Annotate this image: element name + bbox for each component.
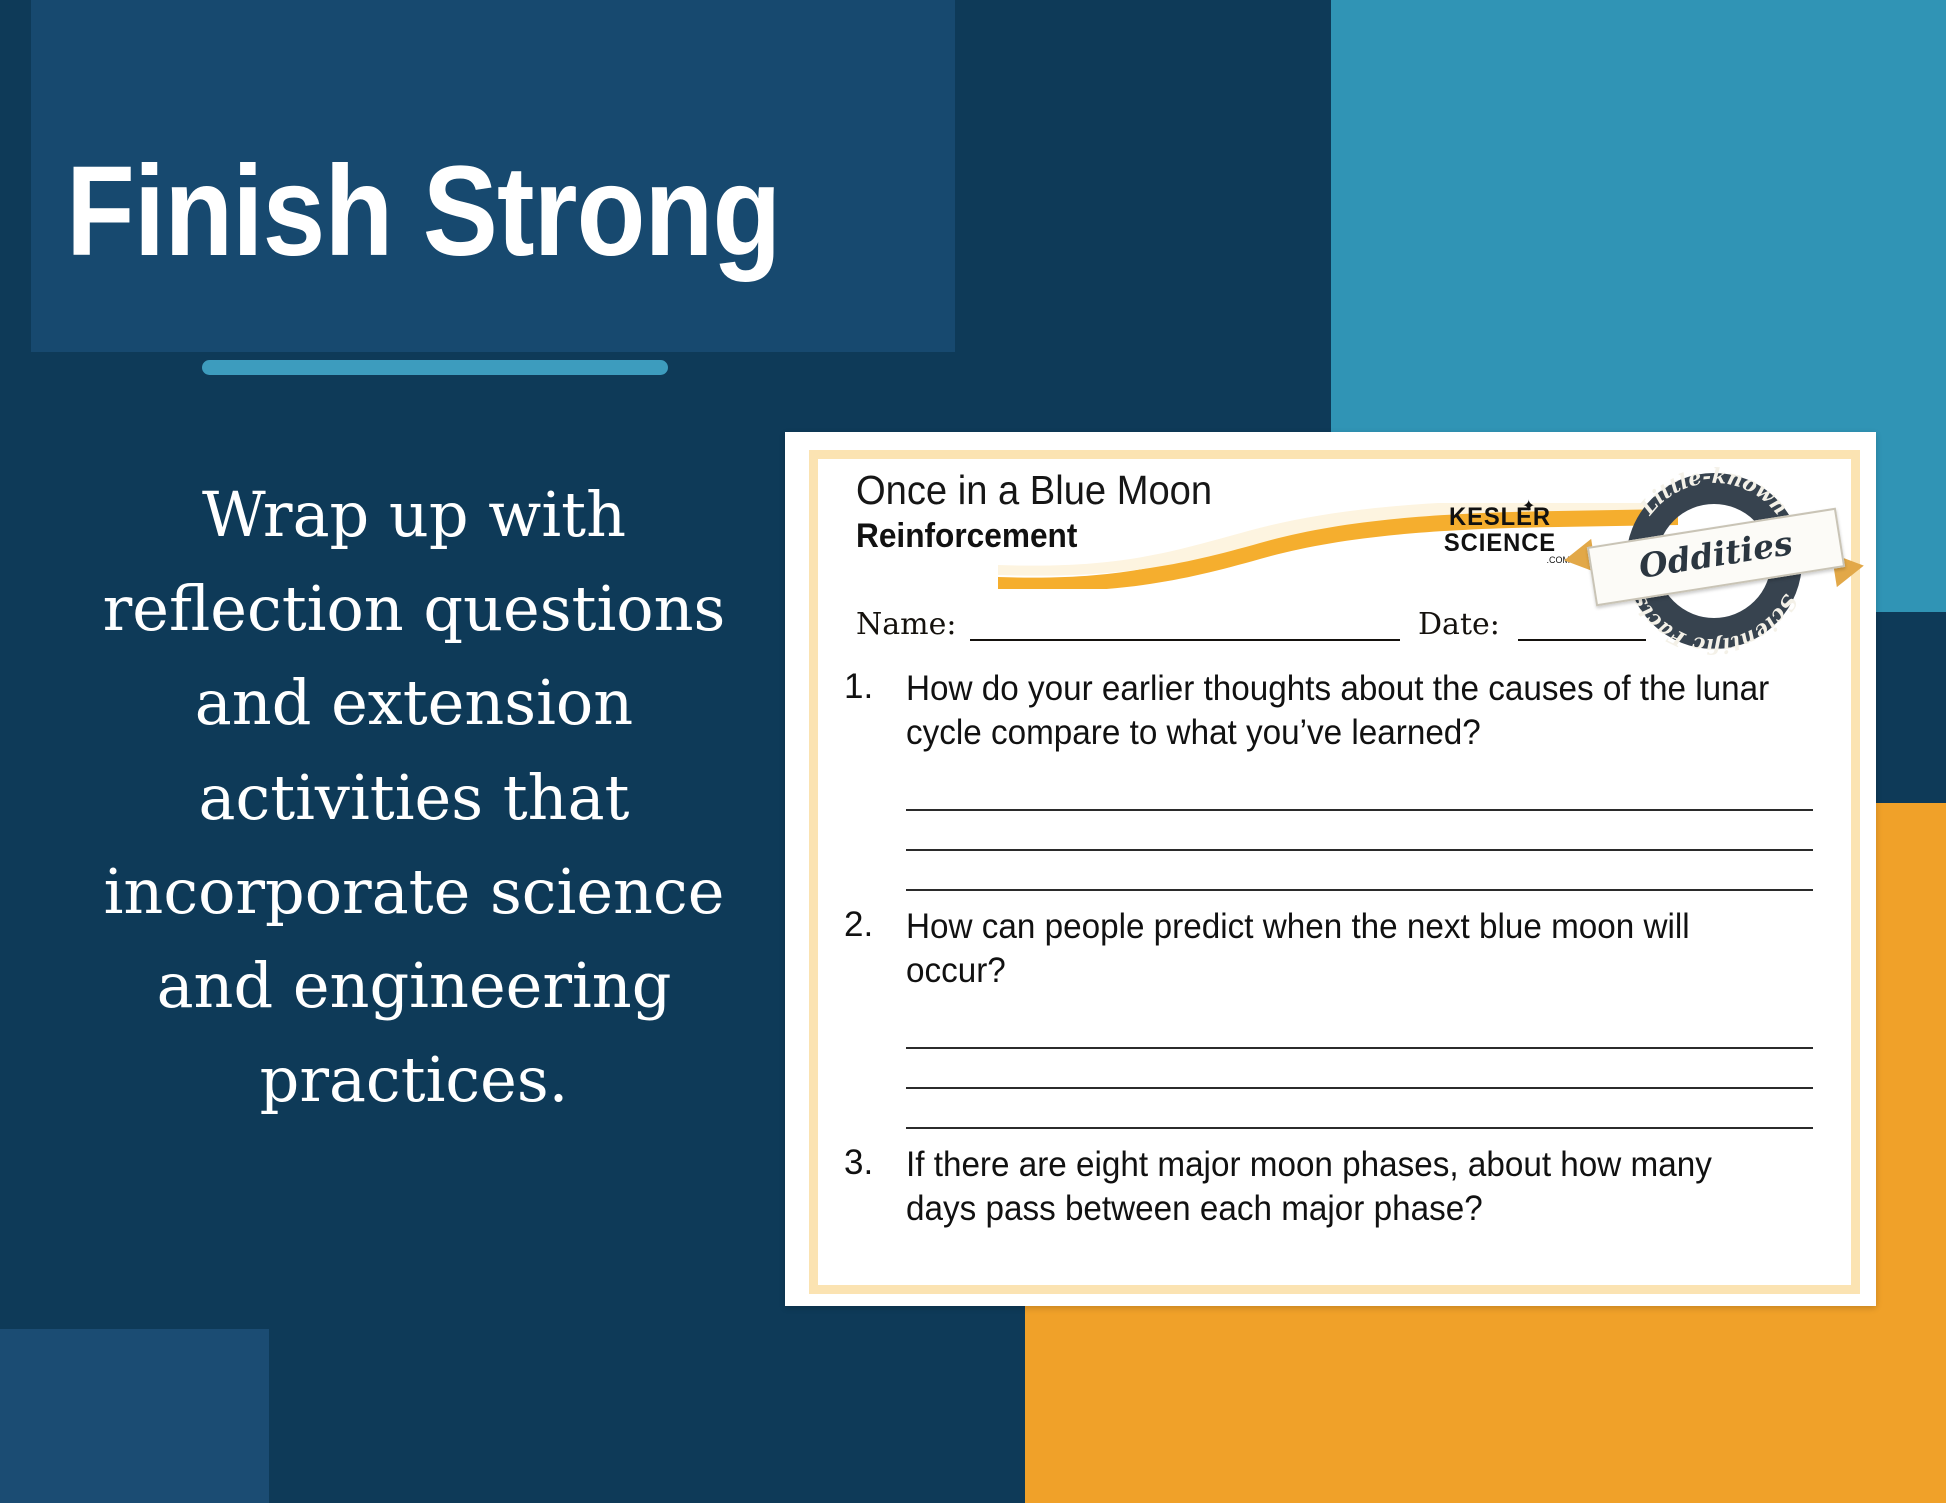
date-input-line[interactable] xyxy=(1518,639,1646,641)
answer-line[interactable] xyxy=(906,771,1813,811)
answer-lines[interactable] xyxy=(906,1009,1851,1129)
logo-line-1: KESLER xyxy=(1434,505,1567,530)
question-item-1: 1. How do your earlier thoughts about th… xyxy=(818,667,1851,891)
question-number: 2. xyxy=(818,905,906,993)
question-text: How can people predict when the next blu… xyxy=(906,905,1804,993)
question-item-2: 2. How can people predict when the next … xyxy=(818,905,1851,1129)
logo-suffix: .COM xyxy=(1430,556,1570,565)
name-date-row: Name: Date: xyxy=(818,601,1851,653)
answer-line[interactable] xyxy=(906,851,1813,891)
worksheet-card[interactable]: Once in a Blue Moon Reinforcement ✦ KESL… xyxy=(785,432,1876,1306)
slide-canvas: Finish Strong Wrap up with reflection qu… xyxy=(0,0,1946,1503)
name-label: Name: xyxy=(856,607,956,642)
question-item-3: 3. If there are eight major moon phases,… xyxy=(818,1143,1851,1231)
svg-text:Little-known: Little-known xyxy=(1634,463,1793,520)
question-number: 3. xyxy=(818,1143,906,1231)
question-text: How do your earlier thoughts about the c… xyxy=(906,667,1804,755)
worksheet-inner-border: Once in a Blue Moon Reinforcement ✦ KESL… xyxy=(809,450,1860,1294)
kesler-science-logo: ✦ KESLER SCIENCE .COM xyxy=(1430,505,1570,565)
decor-block-blue-bottom-left xyxy=(0,1329,269,1503)
question-number: 1. xyxy=(818,667,906,755)
answer-line[interactable] xyxy=(906,811,1813,851)
name-input-line[interactable] xyxy=(970,639,1400,641)
answer-lines[interactable] xyxy=(906,771,1851,891)
page-title: Finish Strong xyxy=(66,148,840,276)
body-paragraph: Wrap up with reflection questions and ex… xyxy=(58,468,770,1128)
worksheet-content: Once in a Blue Moon Reinforcement ✦ KESL… xyxy=(818,459,1851,1285)
worksheet-header: Once in a Blue Moon Reinforcement ✦ KESL… xyxy=(818,459,1851,587)
answer-line[interactable] xyxy=(906,1089,1813,1129)
answer-line[interactable] xyxy=(906,1009,1813,1049)
question-text: If there are eight major moon phases, ab… xyxy=(906,1143,1804,1231)
answer-line[interactable] xyxy=(906,1049,1813,1089)
badge-top-arc-text: Little-known xyxy=(1634,463,1793,520)
title-accent-bar xyxy=(202,360,668,375)
date-label: Date: xyxy=(1418,607,1500,642)
logo-line-2: SCIENCE xyxy=(1434,530,1567,556)
